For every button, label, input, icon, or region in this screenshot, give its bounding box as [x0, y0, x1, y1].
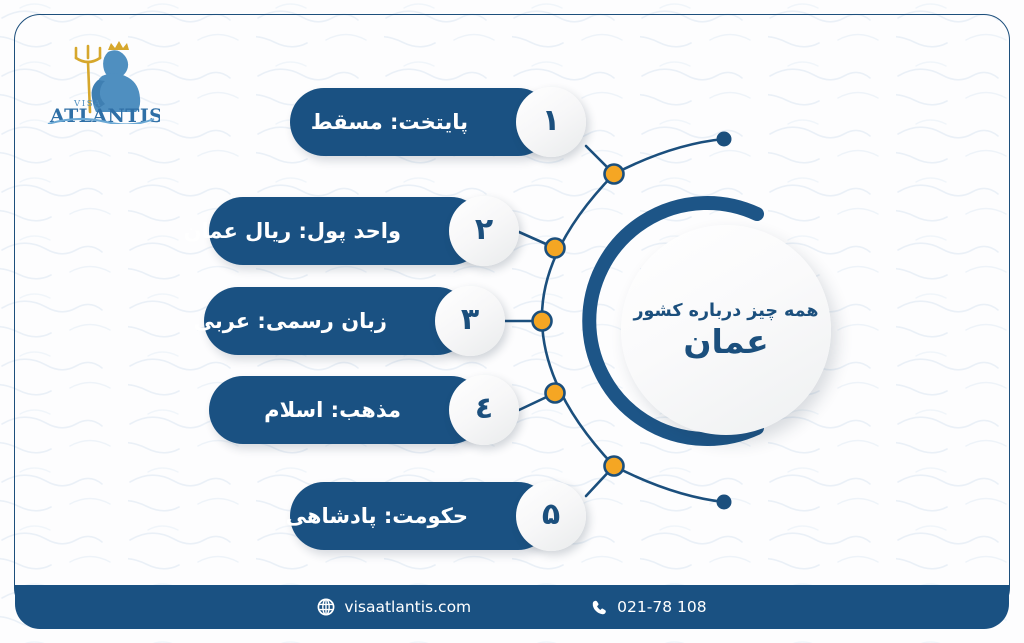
fact-number-2: ۲: [449, 196, 519, 266]
fact-row-1[interactable]: پایتخت: مسقط ۱: [290, 88, 586, 156]
arc-bottom-tail: [614, 466, 724, 502]
fact-pill-2[interactable]: واحد پول: ریال عمان: [209, 197, 485, 265]
footer-bar: visaatlantis.com 021-78 108: [15, 585, 1009, 629]
fact-pill-1[interactable]: پایتخت: مسقط: [290, 88, 552, 156]
hub-subtitle: همه چیز درباره کشور: [633, 301, 818, 321]
fact-pill-4[interactable]: مذهب: اسلام: [209, 376, 485, 444]
arc-top-tail: [614, 139, 724, 174]
fact-row-3[interactable]: زبان رسمی: عربی ۳: [204, 287, 505, 355]
poseidon-trident-icon: VISA ATLANTIS: [42, 34, 160, 124]
phone-icon: [591, 599, 608, 616]
footer-website[interactable]: visaatlantis.com: [317, 598, 471, 616]
infographic-canvas: VISA ATLANTIS: [0, 0, 1024, 643]
fact-number-5: ۵: [516, 481, 586, 551]
fact-number-1: ۱: [516, 87, 586, 157]
fact-number-text-2: ۲: [475, 215, 493, 245]
fact-number-text-1: ۱: [542, 106, 560, 136]
fact-number-4: ٤: [449, 375, 519, 445]
fact-number-text-4: ٤: [475, 394, 493, 424]
globe-icon: [317, 598, 335, 616]
fact-number-text-5: ۵: [542, 500, 560, 530]
fact-number-3: ۳: [435, 286, 505, 356]
fact-label-4: مذهب: اسلام: [264, 398, 407, 422]
fact-row-2[interactable]: واحد پول: ریال عمان ۲: [209, 197, 519, 265]
fact-row-4[interactable]: مذهب: اسلام ٤: [209, 376, 519, 444]
fact-label-2: واحد پول: ریال عمان: [184, 219, 407, 243]
spoke-5: [586, 466, 614, 496]
spoke-1: [586, 146, 614, 174]
footer-phone-text: 021-78 108: [617, 598, 706, 616]
footer-phone[interactable]: 021-78 108: [591, 598, 706, 616]
hub-title: عمان: [683, 325, 768, 360]
hub-text-group: همه چیز درباره کشور عمان: [621, 225, 831, 435]
fact-pill-5[interactable]: حکومت: پادشاهی: [290, 482, 552, 550]
hub-center: همه چیز درباره کشور عمان: [603, 207, 831, 435]
spoke-2: [519, 232, 555, 248]
fact-pill-3[interactable]: زبان رسمی: عربی: [204, 287, 471, 355]
fact-row-5[interactable]: حکومت: پادشاهی ۵: [290, 482, 586, 550]
fact-label-5: حکومت: پادشاهی: [286, 504, 474, 528]
fact-label-1: پایتخت: مسقط: [311, 110, 474, 134]
footer-website-text: visaatlantis.com: [344, 598, 471, 616]
spoke-4: [519, 393, 555, 410]
fact-label-3: زبان رسمی: عربی: [194, 309, 393, 333]
fact-number-text-3: ۳: [461, 305, 479, 335]
